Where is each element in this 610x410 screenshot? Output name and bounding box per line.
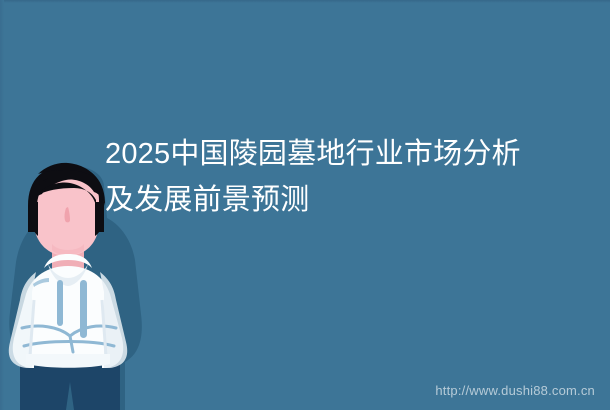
drawstring-left xyxy=(57,280,63,326)
hoodie-hem xyxy=(26,354,110,368)
top-edge-bevel xyxy=(0,0,610,3)
banner-image: 2025中国陵园墓地行业市场分析及发展前景预测 http://www.dushi… xyxy=(0,0,610,410)
watermark-url: http://www.dushi88.com.cn xyxy=(435,383,595,398)
page-title: 2025中国陵园墓地行业市场分析及发展前景预测 xyxy=(105,131,535,223)
